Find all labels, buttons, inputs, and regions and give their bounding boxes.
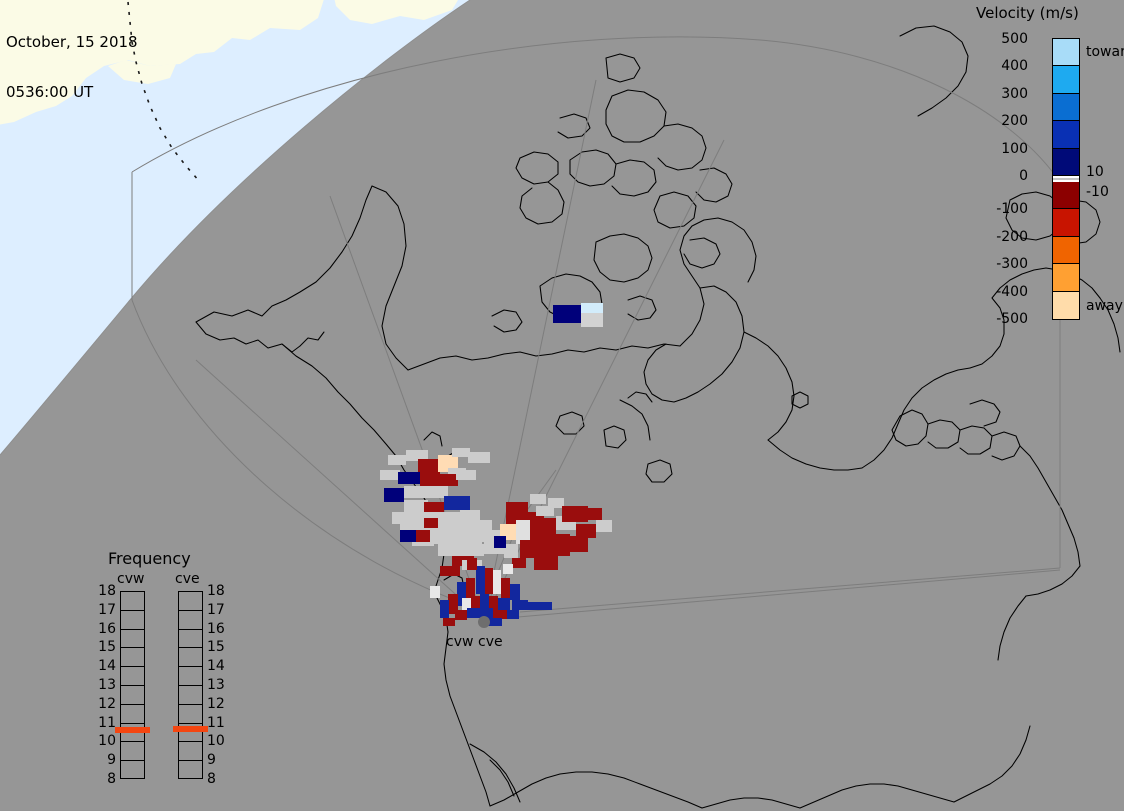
timestamp-date: October, 15 2018 <box>6 34 138 51</box>
frequency-tick-label: 11 <box>207 715 225 731</box>
velocity-positive-threshold-label: 10 <box>1086 164 1104 180</box>
velocity-tick-label: -300 <box>996 256 1028 272</box>
frequency-tick-label: 9 <box>207 752 216 768</box>
timestamp-time: 0536:00 UT <box>6 84 138 101</box>
velocity-tick-label: -500 <box>996 311 1028 327</box>
site-label-cvw: cvw <box>446 634 473 650</box>
frequency-bar-segment <box>179 742 202 761</box>
velocity-legend: Velocity (m/s) 5004003002001000-100-200-… <box>960 0 1124 340</box>
frequency-tick-label: 9 <box>95 752 116 768</box>
frequency-bar-segment <box>179 648 202 667</box>
frequency-bar-segment <box>179 761 202 780</box>
frequency-bar-segment <box>121 630 144 649</box>
frequency-tick-label: 17 <box>207 602 225 618</box>
velocity-band <box>1053 292 1079 319</box>
velocity-band <box>1053 149 1079 176</box>
velocity-tick-label: 300 <box>1001 86 1028 102</box>
frequency-tick-label: 18 <box>95 583 116 599</box>
frequency-column-header-cve: cve <box>175 571 200 587</box>
velocity-tick-label: 200 <box>1001 113 1028 129</box>
velocity-band <box>1053 66 1079 93</box>
frequency-tick-label: 8 <box>207 771 216 787</box>
frequency-bar-segment <box>179 667 202 686</box>
frequency-bar-segment <box>179 705 202 724</box>
velocity-tick-label: -200 <box>996 229 1028 245</box>
frequency-indicator-cvw <box>115 727 150 733</box>
frequency-tick-label: 12 <box>207 696 225 712</box>
frequency-tick-label: 13 <box>207 677 225 693</box>
frequency-tick-label: 12 <box>95 696 116 712</box>
frequency-bar-segment <box>121 705 144 724</box>
velocity-band <box>1053 182 1079 209</box>
site-label-cve: cve <box>478 634 503 650</box>
frequency-bar-segment <box>121 667 144 686</box>
frequency-bar-cvw <box>120 591 145 779</box>
velocity-band <box>1053 121 1079 148</box>
frequency-tick-label: 13 <box>95 677 116 693</box>
velocity-tick-label: 500 <box>1001 31 1028 47</box>
velocity-band <box>1053 39 1079 66</box>
frequency-legend: Frequency cvw cve 18171615141312111098 1… <box>95 545 245 790</box>
velocity-band <box>1053 209 1079 236</box>
velocity-band <box>1053 264 1079 291</box>
frequency-bar-segment <box>121 686 144 705</box>
velocity-away-label: away <box>1086 298 1123 314</box>
frequency-tick-label: 18 <box>207 583 225 599</box>
velocity-tick-label: 100 <box>1001 141 1028 157</box>
velocity-colorbar <box>1052 38 1080 320</box>
radar-site-marker <box>478 616 490 628</box>
frequency-bar-segment <box>121 761 144 780</box>
frequency-tick-label: 15 <box>207 639 225 655</box>
frequency-tick-label: 14 <box>207 658 225 674</box>
frequency-bar-segment <box>179 611 202 630</box>
frequency-tick-label: 10 <box>207 733 225 749</box>
frequency-bar-segment <box>179 686 202 705</box>
frequency-tick-label: 10 <box>95 733 116 749</box>
frequency-bar-segment <box>179 592 202 611</box>
frequency-tick-label: 11 <box>95 715 116 731</box>
frequency-bar-segment <box>121 611 144 630</box>
frequency-tick-label: 15 <box>95 639 116 655</box>
velocity-band <box>1053 94 1079 121</box>
frequency-tick-label: 16 <box>207 621 225 637</box>
frequency-tick-label: 16 <box>95 621 116 637</box>
frequency-bar-segment <box>121 742 144 761</box>
velocity-negative-threshold-label: -10 <box>1086 184 1109 200</box>
velocity-tick-label: -400 <box>996 284 1028 300</box>
frequency-tick-label: 14 <box>95 658 116 674</box>
velocity-tick-label: 400 <box>1001 58 1028 74</box>
frequency-bar-segment <box>121 592 144 611</box>
velocity-band-zero <box>1053 176 1079 182</box>
frequency-bar-segment <box>121 648 144 667</box>
timestamp: October, 15 2018 0536:00 UT <box>6 2 138 133</box>
frequency-bar-segment <box>179 630 202 649</box>
frequency-column-header-cvw: cvw <box>117 571 144 587</box>
velocity-toward-label: toward <box>1086 44 1124 60</box>
frequency-bar-cve <box>178 591 203 779</box>
velocity-tick-label: 0 <box>1019 168 1028 184</box>
frequency-tick-label: 8 <box>95 771 116 787</box>
radar-map-figure: October, 15 2018 0536:00 UT cvw cve Velo… <box>0 0 1124 811</box>
velocity-band <box>1053 237 1079 264</box>
frequency-tick-label: 17 <box>95 602 116 618</box>
frequency-indicator-cve <box>173 726 208 732</box>
velocity-tick-label: -100 <box>996 201 1028 217</box>
velocity-legend-title: Velocity (m/s) <box>976 4 1079 22</box>
frequency-legend-title: Frequency <box>108 549 191 568</box>
